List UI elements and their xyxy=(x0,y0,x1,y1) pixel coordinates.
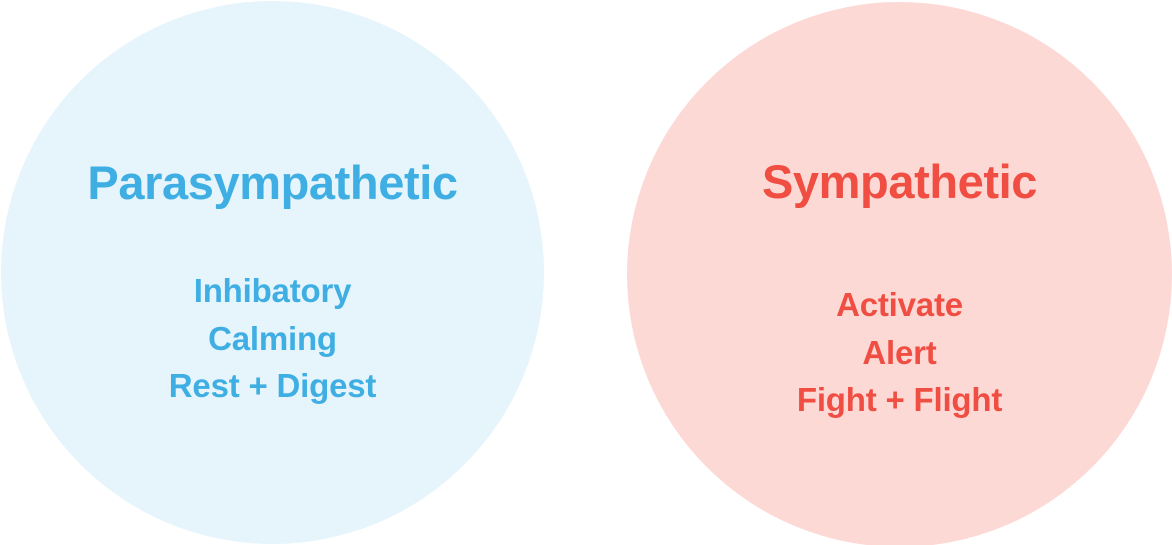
parasympathetic-trait-2: Calming xyxy=(1,315,544,363)
parasympathetic-trait-list: Inhibatory Calming Rest + Digest xyxy=(1,267,544,410)
sympathetic-trait-2: Alert xyxy=(627,329,1172,377)
sympathetic-title: Sympathetic xyxy=(627,158,1172,205)
parasympathetic-trait-1: Inhibatory xyxy=(1,267,544,315)
parasympathetic-circle: Parasympathetic Inhibatory Calming Rest … xyxy=(1,1,544,544)
parasympathetic-title: Parasympathetic xyxy=(1,159,544,206)
parasympathetic-trait-3: Rest + Digest xyxy=(1,362,544,410)
sympathetic-trait-list: Activate Alert Fight + Flight xyxy=(627,281,1172,424)
diagram-canvas: Parasympathetic Inhibatory Calming Rest … xyxy=(0,0,1172,545)
sympathetic-circle: Sympathetic Activate Alert Fight + Fligh… xyxy=(627,2,1172,545)
sympathetic-trait-1: Activate xyxy=(627,281,1172,329)
sympathetic-trait-3: Fight + Flight xyxy=(627,376,1172,424)
